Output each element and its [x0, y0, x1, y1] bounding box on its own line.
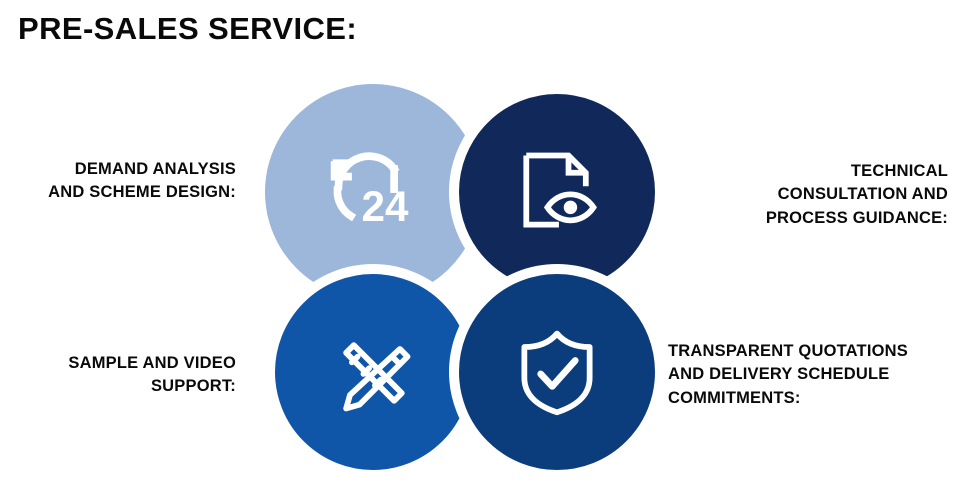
circle-transparent-quotations[interactable] — [449, 264, 665, 480]
shield-check-icon — [509, 324, 605, 420]
label-transparent-quotations: TRANSPARENT QUOTATIONS AND DELIVERY SCHE… — [668, 340, 960, 410]
24-hour-rotation-icon: 24 — [325, 144, 421, 240]
label-line: DEMAND ANALYSIS — [0, 158, 236, 181]
label-line: SUPPORT: — [0, 375, 236, 398]
pencil-ruler-icon — [325, 324, 421, 420]
label-technical-consultation: TECHNICAL CONSULTATION AND PROCESS GUIDA… — [726, 160, 948, 230]
svg-text:24: 24 — [361, 183, 408, 230]
label-line: CONSULTATION AND — [726, 183, 948, 206]
label-line: TRANSPARENT QUOTATIONS — [668, 340, 960, 363]
label-demand-analysis: DEMAND ANALYSIS AND SCHEME DESIGN: — [0, 158, 236, 205]
document-eye-icon — [509, 144, 605, 240]
label-line: PROCESS GUIDANCE: — [726, 207, 948, 230]
label-line: TECHNICAL — [726, 160, 948, 183]
circle-cluster: 24 — [265, 84, 665, 480]
infographic-page: PRE-SALES SERVICE: 24 — [0, 0, 960, 498]
page-title: PRE-SALES SERVICE: — [18, 12, 357, 46]
label-line: SAMPLE AND VIDEO — [0, 352, 236, 375]
label-line: AND SCHEME DESIGN: — [0, 181, 236, 204]
label-line: AND DELIVERY SCHEDULE — [668, 363, 960, 386]
label-sample-video-support: SAMPLE AND VIDEO SUPPORT: — [0, 352, 236, 399]
label-line: COMMITMENTS: — [668, 387, 960, 410]
